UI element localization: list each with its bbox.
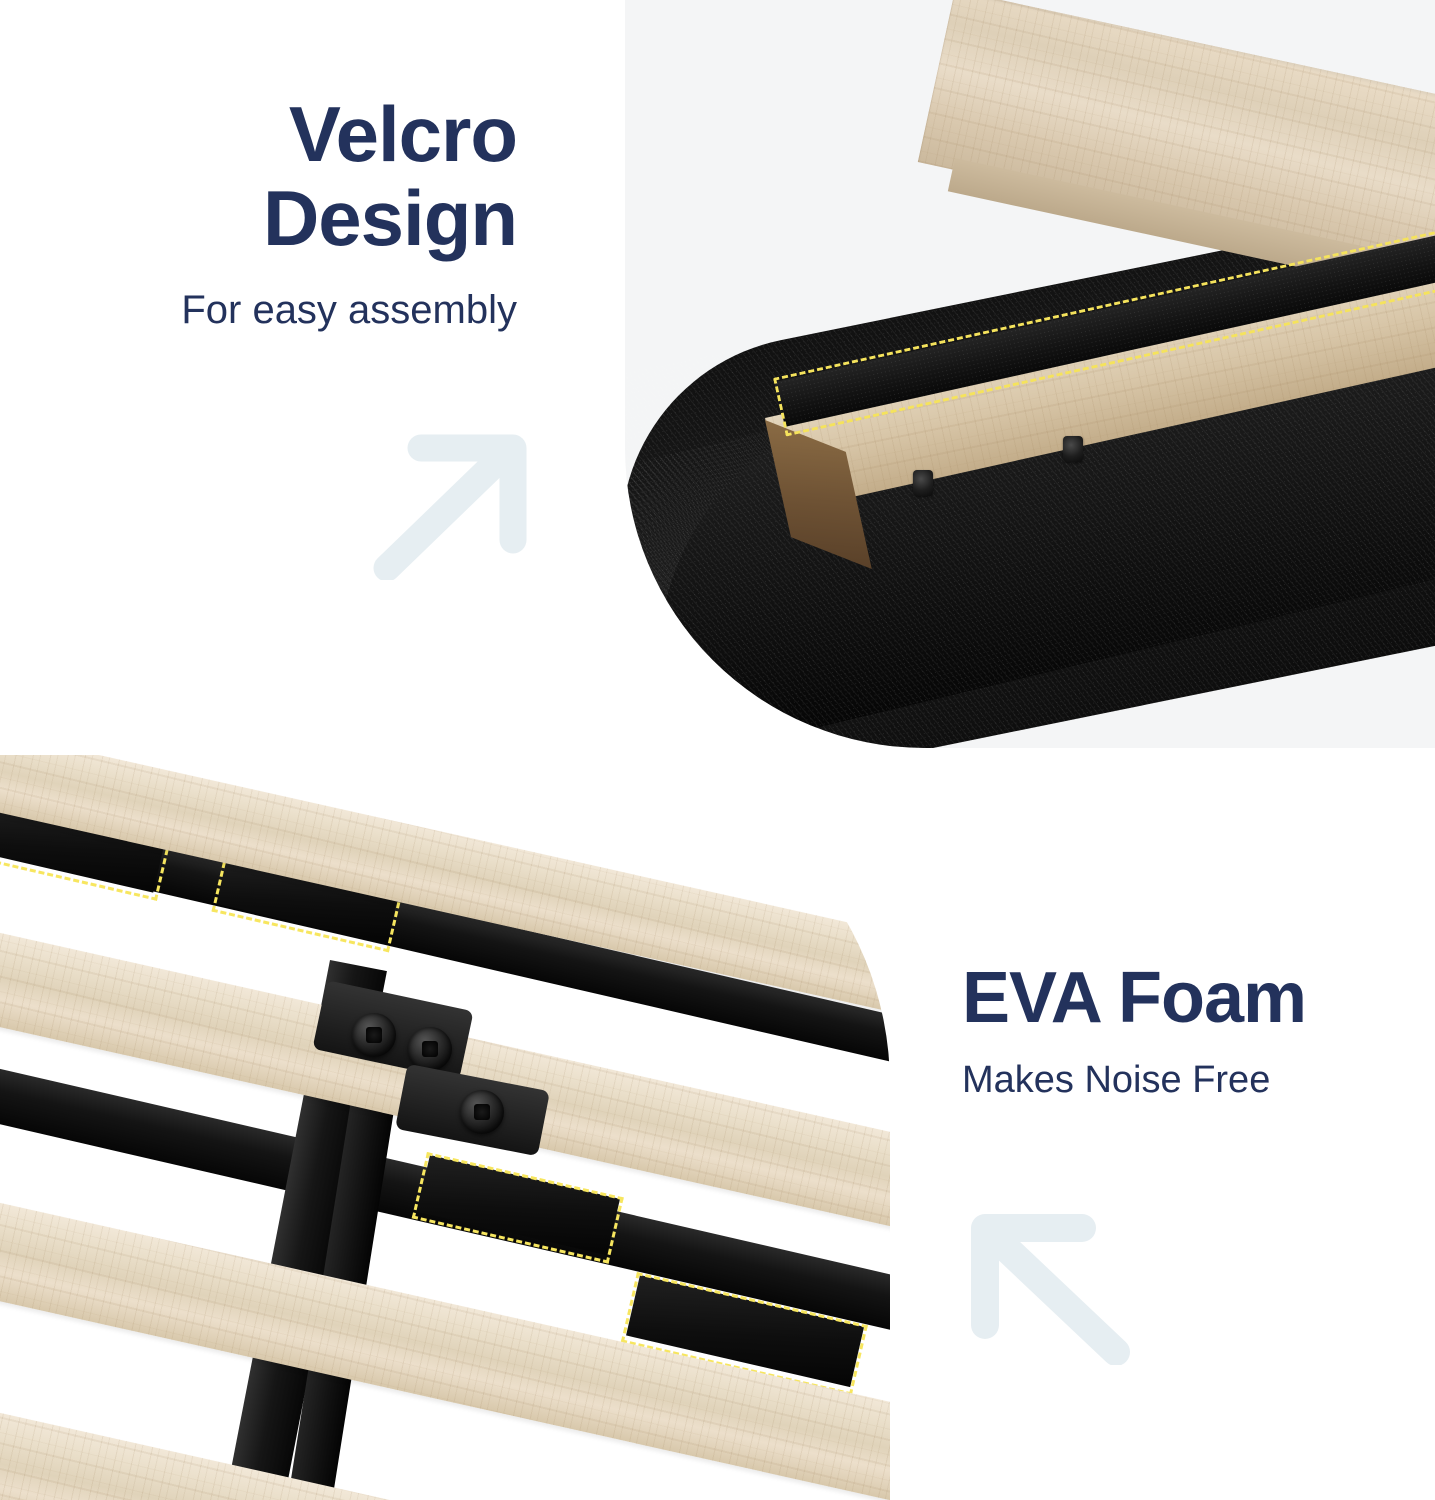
velcro-title: Velcro Design	[47, 92, 517, 260]
eva-photo-panel	[0, 755, 890, 1500]
velcro-text-block: Velcro Design For easy assembly	[47, 92, 517, 334]
velcro-text-panel: Velcro Design For easy assembly	[0, 0, 625, 748]
screw-icon	[913, 470, 933, 496]
eva-text-block: EVA Foam Makes Noise Free	[962, 960, 1432, 1104]
velcro-photo-panel	[625, 0, 1435, 748]
bolt-icon	[460, 1090, 504, 1134]
eva-subtitle: Makes Noise Free	[962, 1058, 1432, 1104]
arrow-up-left-icon	[965, 1210, 1130, 1365]
arrow-up-right-icon	[373, 430, 533, 580]
screw-icon	[1063, 436, 1083, 462]
eva-title: EVA Foam	[962, 960, 1432, 1036]
infographic-canvas: Velcro Design For easy assembly	[0, 0, 1435, 1500]
eva-text-panel: EVA Foam Makes Noise Free	[890, 755, 1435, 1500]
velcro-subtitle: For easy assembly	[47, 286, 517, 334]
bolt-icon	[352, 1013, 396, 1057]
